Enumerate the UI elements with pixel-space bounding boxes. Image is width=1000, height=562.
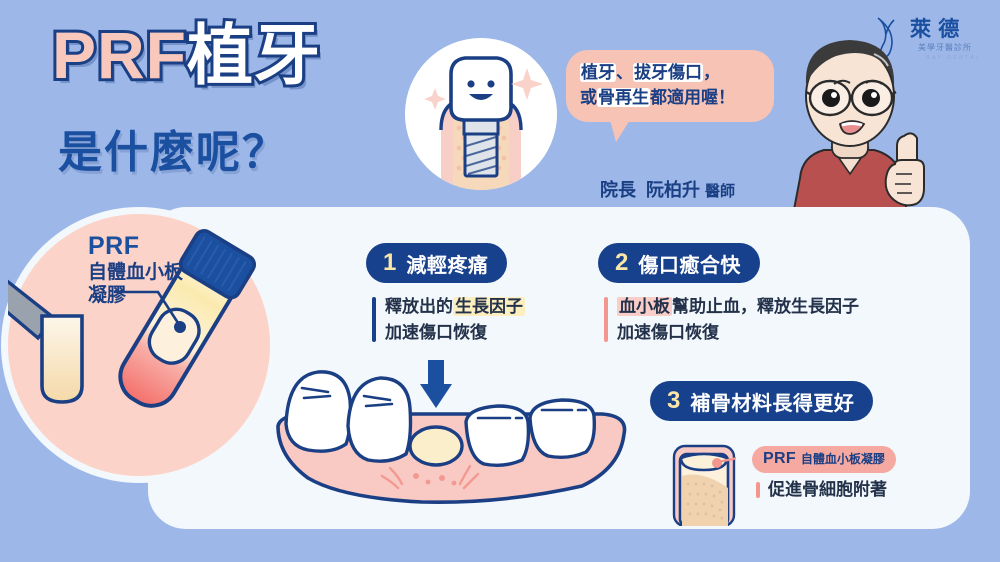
point-2-pill[interactable]: 2 傷口癒合快	[598, 243, 760, 283]
page-title: PRF植牙	[52, 22, 321, 88]
down-arrow-icon	[420, 360, 452, 408]
point-1-body: 釋放出的生長因子 加速傷口恢復	[372, 294, 525, 345]
doctor-fullname: 阮柏升	[646, 180, 700, 200]
point-2-number: 2	[615, 251, 628, 275]
bubble-sep-1: 、	[616, 63, 633, 82]
doctor-name: 院長 阮柏升 醫師	[600, 176, 735, 202]
doctor-title: 院長	[600, 180, 636, 200]
point-2-body: 血小板幫助止血，釋放生長因子 加速傷口恢復	[604, 294, 859, 345]
doctor-avatar	[762, 28, 942, 220]
point-3-pill[interactable]: 3 補骨材料長得更好	[650, 381, 873, 421]
point-3-heading: 補骨材料長得更好	[690, 387, 854, 416]
prf-callout-en: PRF	[88, 233, 183, 261]
bubble-hl-boneregen: 骨再生	[597, 88, 650, 107]
bubble-sep-2: ，	[703, 63, 720, 82]
point-2-post: 幫助止血，釋放生長因子	[672, 297, 859, 316]
point-2-body-line-1: 血小板幫助止血，釋放生長因子	[617, 294, 859, 320]
bone-socket-illustration	[672, 444, 736, 526]
prf-badge-zh: 自體血小板凝膠	[801, 450, 885, 467]
point-3-number: 3	[667, 389, 680, 413]
point-1-body-line-2: 加速傷口恢復	[385, 320, 525, 346]
point-1-pill[interactable]: 1 減輕疼痛	[366, 243, 507, 283]
point-1-highlight: 生長因子	[453, 297, 525, 316]
bubble-text-tail: 都適用喔！	[650, 88, 735, 107]
teeth-illustration	[262, 352, 644, 510]
doctor-suffix: 醫師	[705, 183, 735, 200]
point-1-body-line-1: 釋放出的生長因子	[385, 294, 525, 320]
thumbs-up-icon	[886, 133, 924, 205]
prf-callout-zh-1: 自體血小板	[88, 261, 183, 285]
prf-callout-zh-2: 凝膠	[88, 284, 183, 308]
tooth-implant-icon	[405, 38, 557, 190]
title-zh: 植牙	[187, 18, 321, 92]
point-1-heading: 減輕疼痛	[406, 249, 488, 278]
title-prf: PRF	[52, 18, 187, 92]
bubble-text-or: 或	[580, 88, 597, 107]
bubble-hl-extraction: 拔牙傷口	[633, 63, 703, 82]
infographic-canvas: PRF植牙 是什麼呢？	[0, 0, 1000, 562]
point-1-pre: 釋放出的	[385, 297, 453, 316]
point-2-body-line-2: 加速傷口恢復	[617, 320, 859, 346]
speech-bubble: 植牙、拔牙傷口， 或骨再生都適用喔！	[566, 50, 774, 122]
prf-callout-label: PRF 自體血小板 凝膠	[88, 233, 183, 308]
point-2-highlight: 血小板	[617, 297, 672, 316]
page-subtitle: 是什麼呢？	[58, 116, 288, 180]
bubble-line-1: 植牙、拔牙傷口，	[580, 61, 761, 86]
point-1-number: 1	[383, 251, 396, 275]
prf-badge-en: PRF	[763, 450, 796, 468]
bone-caption-text: 促進骨細胞附著	[768, 478, 887, 502]
bone-caption: 促進骨細胞附著	[756, 478, 887, 502]
bubble-line-2: 或骨再生都適用喔！	[580, 86, 761, 111]
bubble-hl-implant: 植牙	[580, 63, 616, 82]
prf-badge: PRF 自體血小板凝膠	[752, 446, 896, 473]
blood-tube-icon-left	[42, 316, 82, 402]
point-2-heading: 傷口癒合快	[638, 249, 741, 278]
